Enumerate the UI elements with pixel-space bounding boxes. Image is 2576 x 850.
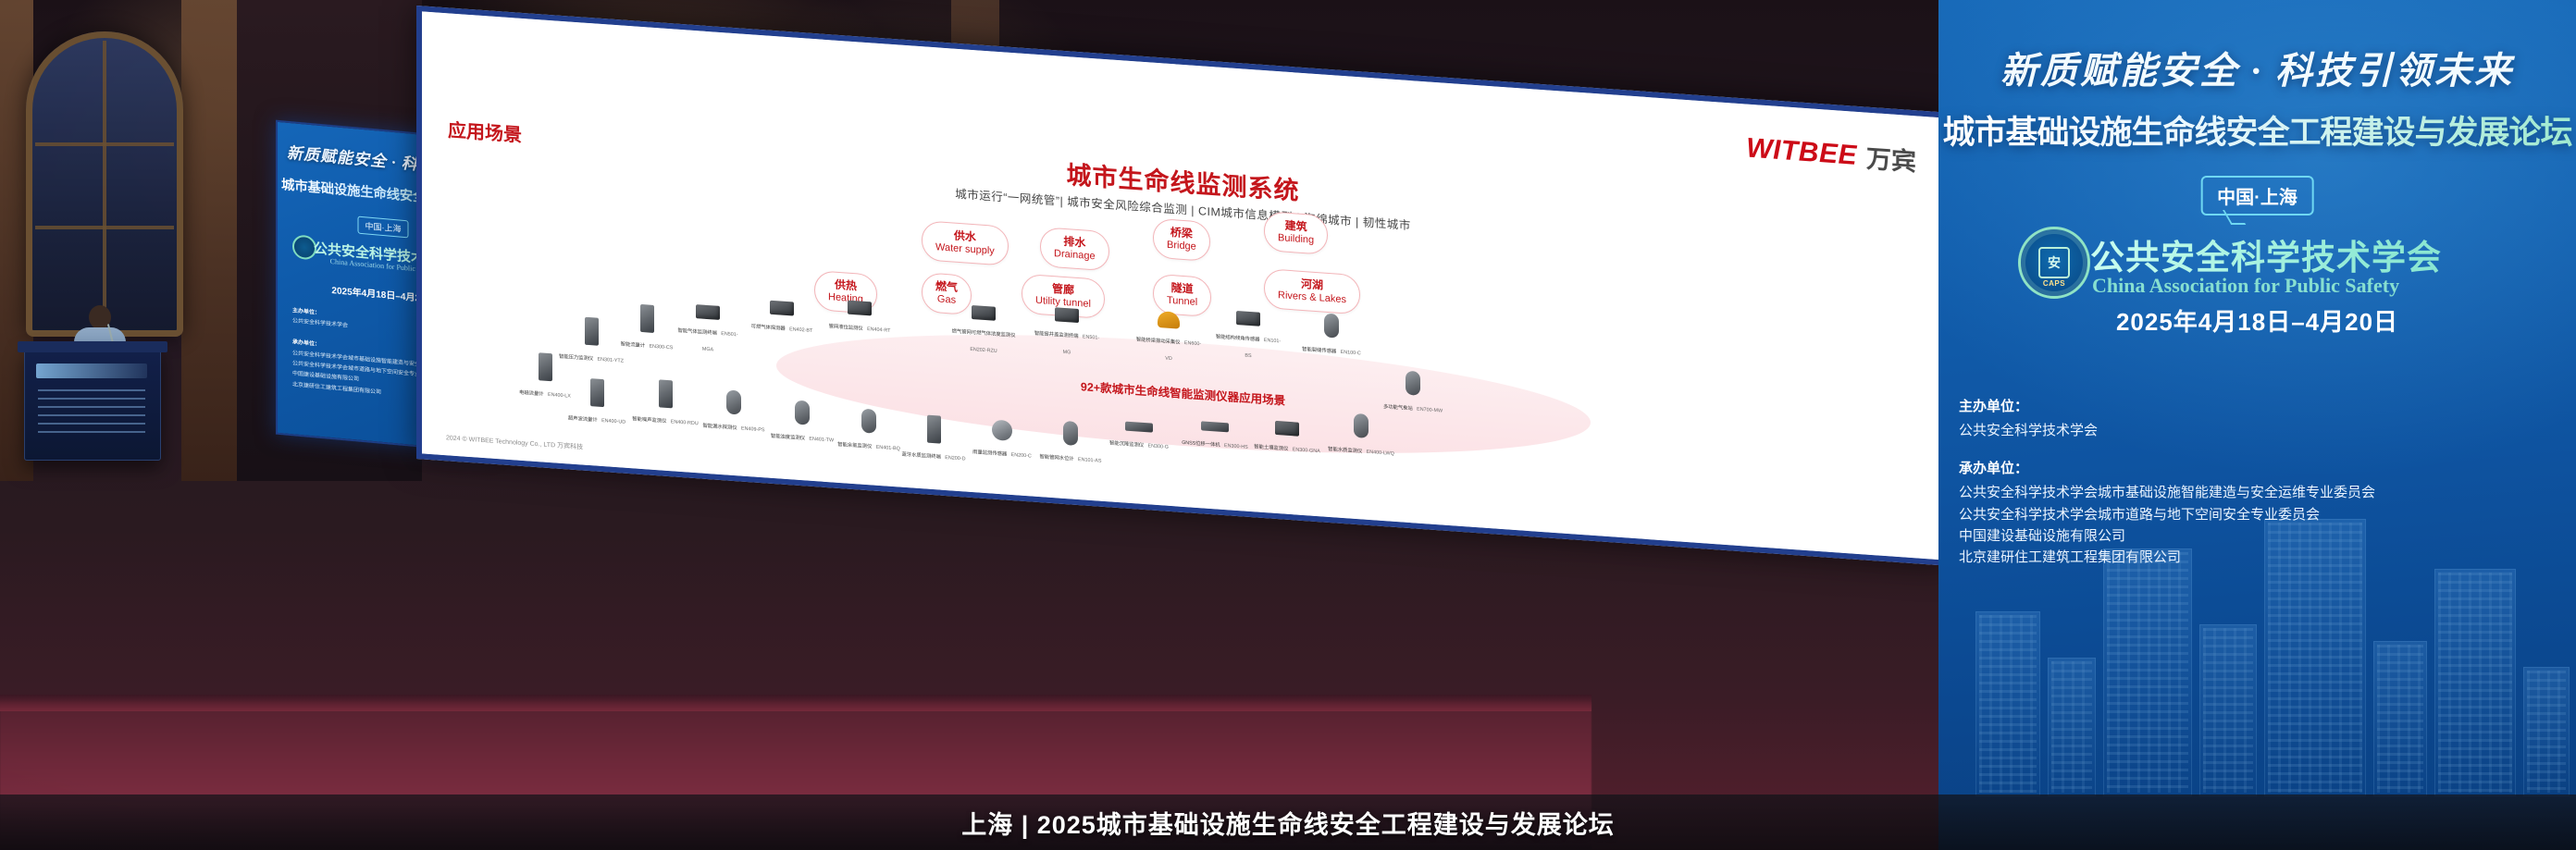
host-block: 主办单位： 公共安全科学技术学会 [1959,396,2570,441]
witbee-logo-en: WITBEE [1746,132,1857,171]
device-glyph-tall [590,378,604,407]
device-item: 多功能气象站 EN700-MW [1379,369,1447,417]
bottom-caption-bar: 上海 | 2025城市基础设施生命线安全工程建设与发展论坛 [0,795,2576,850]
device-caption: 智能土壤监测仪 [1254,444,1288,452]
device-caption: 可燃气体探测器 [751,324,786,332]
device-caption: 智能结构倾角传感器 [1216,334,1260,342]
lectern [24,348,161,461]
device-item: 智能水质监测仪 EN400-LWQ [1327,412,1395,460]
device-caption: 智能裂缝传感器 [1302,347,1336,355]
stage-banner-organizer-line: 北京建研住工建筑工程集团有限公司 [292,382,381,396]
device-model: EN101-AS [1078,457,1101,464]
device-model: EN409-PS [741,426,764,434]
device-glyph-dome [1158,311,1180,329]
device-item: 智能窨井盖监测终端 EN501-MG [1033,306,1101,361]
device-glyph-box [972,305,996,321]
device-glyph-tall [539,352,552,381]
device-caption: 智能管网水位计 [1040,454,1074,462]
device-model: EN402-BT [789,326,812,334]
device-glyph-cylinder [861,409,876,434]
device-glyph-cylinder [1406,371,1420,396]
device-model: EN300-HS [1224,443,1248,450]
scene-bubble-building: 建筑 Building [1264,211,1328,255]
slide-copyright: 2024 © WITBEE Technology Co., LTD 万宾科技 [446,433,583,451]
right-wall-slogan: 新质赋能安全 · 科技引领未来 [1938,41,2576,94]
device-item: 超声波流量计 EN400-UD [563,376,631,428]
device-caption: 雨量监测传感器 [972,450,1007,458]
device-model: EN400-LWQ [1367,450,1394,457]
caption-text: 上海 | 2025城市基础设施生命线安全工程建设与发展论坛 [961,805,1615,841]
device-caption: 智能噪声监测仪 [632,416,666,425]
device-caption: 智能水质监测仪 [1328,447,1362,455]
right-wall-date: 2025年4月18日–4月20日 [1938,303,2576,338]
bubble-label-en: Building [1278,232,1314,247]
device-item: 智能桥梁振动采集仪 EN600-VD [1134,309,1203,366]
device-model: EN404-RT [867,326,890,334]
device-glyph-box [696,304,720,320]
bubble-label-en: Bridge [1167,240,1196,254]
device-caption: 智能浊度监测仪 [771,434,805,442]
device-item: 智能漏水探测仪 EN409-PS [700,388,768,436]
device-item: 燃气管网可燃气体浓度监测仪 EN202-RZU [949,303,1018,358]
device-model: EN400-RDU [671,419,699,426]
caps-seal-icon: 安 CAPS [2018,227,2090,299]
device-caption: 多功能气象站 [1383,404,1413,412]
device-caption: GNSS位移一体机 [1182,440,1220,449]
organizer-line: 公共安全科学技术学会城市基础设施智能建造与安全运维专业委员会 [1959,482,2570,503]
stage-banner-organizer-heading: 承办单位： [292,339,320,348]
right-led-wall: 新质赋能安全 · 科技引领未来 城市基础设施生命线安全工程建设与发展论坛 中国·… [1938,0,2576,850]
caps-seal-inner-glyph: 安 [2038,247,2070,278]
device-glyph-box [1236,311,1260,326]
stage-banner-host-heading: 主办单位： [292,308,320,316]
device-item: 管网液位监测仪 EN404-RT [825,299,894,337]
screenshot-root: 新质赋能安全 · 科技引领未来 城市基础设施生命线安全工程建设与发展论坛 中国·… [0,0,2576,850]
device-item: 智能噪声监测仪 EN400-RDU [631,377,700,429]
device-caption: 智能漏水探测仪 [703,424,737,432]
device-caption: 智能余氯监测仪 [837,442,872,450]
device-model: EN100-C [1341,350,1361,357]
device-caption: 超声波流量计 [568,415,598,423]
stage-banner-location-badge: 中国·上海 [358,216,409,239]
device-caption: 蓝牙水质监测终端 [902,452,941,461]
lectern-logo [36,363,147,378]
caps-seal-abbr: CAPS [2021,279,2087,288]
device-item: 智能结构倾角传感器 EN101-BS [1214,309,1282,363]
wall-wood-panel [181,0,237,481]
witbee-logo-cn: 万宾 [1866,139,1916,179]
scene-bubble-water-supply: 供水 Water supply [922,220,1009,265]
device-item: 智能余氯监测仪 EN401-BQ [835,407,903,455]
lectern-top [18,341,167,352]
device-glyph-box [848,301,872,316]
device-glyph-cylinder [795,400,810,425]
device-model: EN400-UD [601,418,625,425]
device-caption: 智能桥梁振动采集仪 [1136,337,1181,345]
bubble-label-en: Tunnel [1167,295,1197,310]
device-glyph-cylinder [1354,413,1368,438]
device-item: 智能沉降监测仪 EN300-G [1105,420,1173,453]
device-glyph-flat [1201,421,1229,432]
witbee-logo: WITBEE 万宾 [1746,130,1916,179]
device-caption: 管网液位监测仪 [829,324,863,332]
device-glyph-cylinder [1324,314,1339,339]
device-model: EN300-G [1148,443,1169,450]
stage-floor-edge [0,695,1591,711]
organizer-line: 北京建研住工建筑工程集团有限公司 [1959,547,2570,568]
device-item: 智能土壤监测仪 EN300-GNA [1253,419,1321,457]
lectern-text-block [38,389,145,439]
device-glyph-flat [1125,422,1153,433]
organizer-heading: 承办单位： [1959,458,2570,477]
organizer-line: 中国建设基础设施有限公司 [1959,525,2570,547]
device-caption: 电磁流量计 [519,390,543,398]
device-model: EN202-RZU [970,347,997,354]
stage-banner-organizer-line: 中国建设基础设施有限公司 [292,372,359,383]
device-item: 雨量监测传感器 EN200-C [968,418,1036,462]
device-caption: 智能窨井盖监测终端 [1034,331,1079,339]
device-model: EN401-BQ [876,445,900,452]
device-model: EN301-YTZ [598,357,624,364]
window-arch [26,31,183,337]
device-glyph-tall [659,379,673,408]
device-glyph-tall [640,304,654,333]
scene-bubble-drainage: 排水 Drainage [1040,227,1109,271]
device-glyph-disc [992,419,1012,441]
device-glyph-box [1275,421,1299,437]
device-model: EN401-TW [809,437,834,444]
device-glyph-cylinder [1063,421,1078,446]
device-item: 蓝牙水质监测终端 EN200-D [899,413,968,465]
device-item: 智能裂缝传感器 EN100-C [1297,312,1366,360]
device-model: EN200-D [945,455,965,462]
bubble-label-cn: 燃气 [935,279,958,295]
right-wall-title: 城市基础设施生命线安全工程建设与发展论坛 [1938,106,2576,154]
organizer-line: 公共安全科学技术学会城市道路与地下空间安全专业委员会 [1959,504,2570,525]
scene-bubble-bridge: 桥梁 Bridge [1153,218,1210,262]
device-caption: 燃气管网可燃气体浓度监测仪 [952,328,1016,339]
host-line: 公共安全科学技术学会 [1959,420,2570,441]
right-wall-association-en: China Association for Public Safety [2092,274,2573,298]
device-item: 智能管网水位计 EN101-AS [1036,419,1105,467]
device-item: 智能气体监测终端 EN501-MGA [674,302,742,357]
device-caption: 智能气体监测终端 [677,328,716,337]
right-wall-association-cn: 公共安全科学技术学会 [2090,229,2571,279]
right-wall-organizers: 主办单位： 公共安全科学技术学会 承办单位： 公共安全科学技术学会城市基础设施智… [1959,396,2570,585]
device-item: GNSS位移一体机 EN300-HS [1181,420,1249,453]
device-model: EN700-MW [1417,407,1443,414]
device-model: EN300-GNA [1293,447,1320,454]
device-glyph-box [770,301,794,316]
host-heading: 主办单位： [1959,396,2570,415]
device-model: EN200-C [1011,452,1032,460]
device-glyph-tall [927,415,941,444]
right-wall-location-badge: 中国·上海 [2200,176,2314,216]
device-item: 智能浊度监测仪 EN401-TW [768,399,836,447]
device-item: 可燃气体探测器 EN402-BT [748,299,816,337]
device-glyph-cylinder [726,389,741,414]
device-model: EN300-CS [650,344,674,351]
scene-bubble-rivers-lakes: 河湖 Rivers & Lakes [1264,268,1360,314]
stage-banner-host-line: 公共安全科学技术学会 [292,319,348,329]
device-glyph-tall [585,317,599,346]
bubble-label-en: Drainage [1054,248,1096,264]
device-glyph-box [1055,307,1079,323]
device-caption: 智能沉降监测仪 [1109,440,1144,449]
organizer-block: 承办单位： 公共安全科学技术学会城市基础设施智能建造与安全运维专业委员会 公共安… [1959,458,2570,568]
